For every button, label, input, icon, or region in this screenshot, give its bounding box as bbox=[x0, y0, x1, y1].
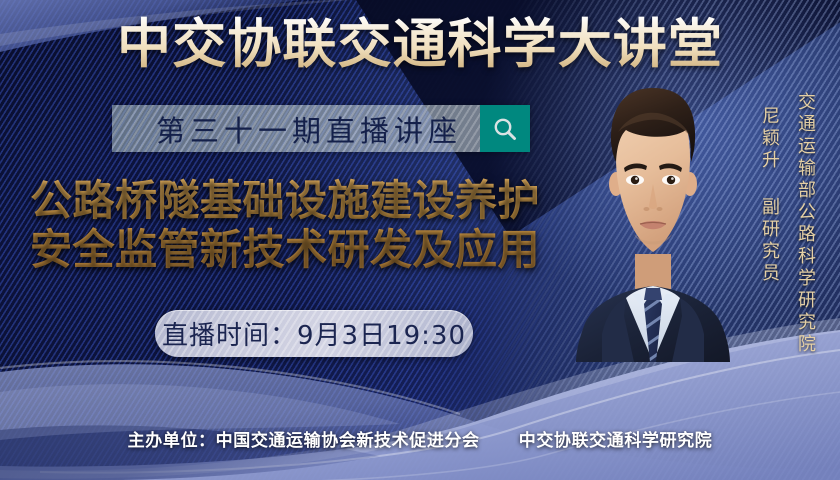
broadcast-time-badge: 直播时间：9月3日19:30 bbox=[155, 310, 473, 357]
footer-organizer-label: 主办单位：中国交通运输协会新技术促进分会 bbox=[128, 431, 480, 451]
footer-organizers: 主办单位：中国交通运输协会新技术促进分会 中交协联交通科学研究院 bbox=[0, 426, 840, 451]
speaker-organization: 交通运输部公路科学研究院 bbox=[792, 92, 818, 356]
headline-line-2: 安全监管新技术研发及应用 bbox=[30, 225, 590, 274]
episode-label: 第三十一期直播讲座 bbox=[112, 105, 480, 152]
broadcast-time-label: 直播时间：9月3日19:30 bbox=[162, 315, 466, 352]
episode-banner: 第三十一期直播讲座 bbox=[112, 105, 530, 152]
speaker-name-title: 尼颖升 副研究员 bbox=[756, 106, 782, 285]
footer-institute: 中交协联交通科学研究院 bbox=[519, 431, 713, 451]
headline-line-1: 公路桥隧基础设施建设养护 bbox=[30, 176, 590, 225]
page-title: 中交协联交通科学大讲堂 bbox=[0, 16, 840, 74]
webinar-poster: 中交协联交通科学大讲堂 第三十一期直播讲座 公路桥隧基础设施建设养护 安全监管新… bbox=[0, 0, 840, 480]
search-icon-box[interactable] bbox=[480, 105, 530, 152]
speaker-photo bbox=[568, 72, 738, 362]
search-icon bbox=[492, 116, 518, 142]
speaker-portrait-illustration bbox=[568, 72, 738, 362]
lecture-headline: 公路桥隧基础设施建设养护 安全监管新技术研发及应用 bbox=[30, 176, 590, 274]
